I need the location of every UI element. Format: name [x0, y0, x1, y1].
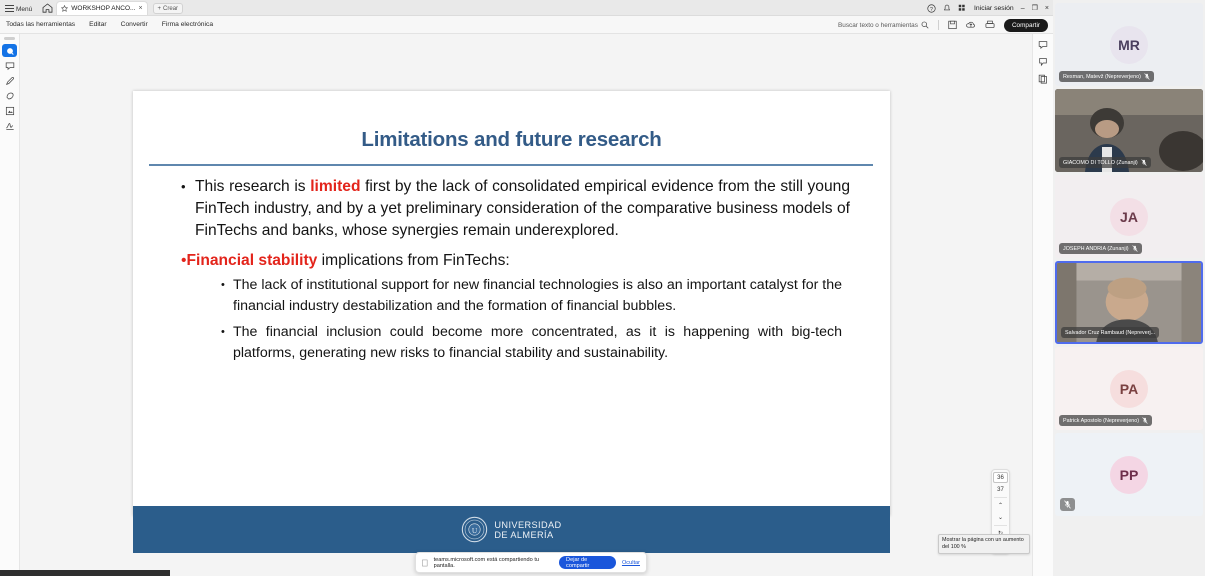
- toolbar: Todas las herramientas Editar Convertir …: [0, 16, 1053, 34]
- slide-title: Limitations and future research: [133, 128, 890, 152]
- stamp-tool-button[interactable]: [2, 104, 17, 117]
- participant-tile[interactable]: JA JOSEPH ANDRIA (Zunanji): [1055, 175, 1203, 258]
- next-page-number[interactable]: 37: [993, 484, 1008, 495]
- participant-tile[interactable]: PP: [1055, 433, 1203, 516]
- plus-icon: +: [158, 6, 162, 12]
- bullet-1-highlight: limited: [310, 178, 360, 195]
- help-icon[interactable]: ?: [927, 4, 936, 13]
- teams-video-panel: MR Resman, Matevž (Nepreverjeno) GIACOMO…: [1053, 0, 1205, 576]
- participant-name-bar: GIACOMO DI TOLLO (Zunanji): [1059, 157, 1151, 168]
- print-icon[interactable]: [985, 20, 995, 30]
- participant-tile[interactable]: MR Resman, Matevž (Nepreverjeno): [1055, 3, 1203, 86]
- participant-name-bar: Resman, Matevž (Nepreverjeno): [1059, 71, 1154, 82]
- avatar-initials: PP: [1120, 467, 1139, 483]
- right-tool-rail: [1032, 34, 1053, 576]
- upload-cloud-icon[interactable]: [966, 20, 976, 30]
- menu-hamburger-icon[interactable]: [5, 5, 14, 12]
- participant-name-bar: Patrick Apostolo (Nepreverjeno): [1059, 415, 1152, 426]
- university-name-line2: DE ALMERÍA: [494, 530, 561, 540]
- slide: Limitations and future research • This r…: [133, 128, 890, 553]
- participant-name-bar: JOSEPH ANDRIA (Zunanji): [1059, 243, 1142, 254]
- new-tab-button[interactable]: + Crear: [153, 3, 184, 14]
- page-canvas[interactable]: Limitations and future research • This r…: [20, 34, 1032, 576]
- hide-notification-link[interactable]: Ocultar: [622, 560, 640, 566]
- menu-item-esign[interactable]: Firma electrónica: [162, 21, 213, 28]
- menu-label[interactable]: Menú: [16, 6, 32, 13]
- bullet-1-text: This research is limited first by the la…: [195, 176, 850, 242]
- mic-muted-button[interactable]: [1060, 498, 1075, 511]
- new-tab-label: Crear: [163, 6, 178, 12]
- star-icon: [61, 5, 68, 12]
- participant-name: Resman, Matevž (Nepreverjeno): [1063, 74, 1141, 80]
- share-message: teams.microsoft.com está compartiendo tu…: [434, 557, 553, 569]
- divider: [938, 20, 939, 30]
- search-placeholder: Buscar texto o herramientas: [838, 22, 918, 29]
- rail-grip-handle[interactable]: [4, 37, 15, 40]
- mic-muted-icon: [1132, 245, 1138, 252]
- notification-bell-icon[interactable]: [943, 4, 951, 13]
- acrobat-reader-window: Menú WORKSHOP ANCO... × + Crear ? Inicia…: [0, 0, 1053, 576]
- sign-in-button[interactable]: Iniciar sesión: [974, 5, 1014, 12]
- comment-tool-button[interactable]: [2, 59, 17, 72]
- maximize-button[interactable]: ❐: [1032, 5, 1038, 12]
- sticky-note-icon[interactable]: [1035, 55, 1051, 69]
- participant-name: GIACOMO DI TOLLO (Zunanji): [1063, 160, 1138, 166]
- avatar: PA: [1110, 370, 1148, 408]
- slide-footer-band: U UNIVERSIDAD DE ALMERÍA: [133, 506, 890, 553]
- university-name: UNIVERSIDAD DE ALMERÍA: [494, 520, 561, 540]
- stop-sharing-button[interactable]: Dejar de compartir: [559, 556, 616, 569]
- previous-page-arrow-icon[interactable]: ⌃: [993, 500, 1008, 511]
- mic-muted-icon: [1142, 417, 1148, 424]
- pdf-page: Limitations and future research • This r…: [133, 91, 890, 516]
- toolbar-right-group: Buscar texto o herramientas Compartir: [838, 16, 1048, 34]
- apps-grid-icon[interactable]: [958, 4, 967, 13]
- bullet-2-text: Financial stability implications from Fi…: [186, 250, 509, 272]
- university-seal-logo: U: [461, 516, 488, 543]
- tab-title: WORKSHOP ANCO...: [71, 5, 135, 12]
- svg-text:U: U: [472, 526, 478, 535]
- divider: [994, 525, 1007, 526]
- bullet-dot-icon: •: [221, 322, 233, 363]
- taskbar-sliver: [0, 570, 170, 576]
- next-page-arrow-icon[interactable]: ⌄: [993, 512, 1008, 523]
- participant-tile[interactable]: GIACOMO DI TOLLO (Zunanji): [1055, 89, 1203, 172]
- window-controls: ? Iniciar sesión – ❐ ×: [927, 4, 1049, 13]
- close-window-button[interactable]: ×: [1045, 5, 1049, 12]
- mic-muted-icon: [1144, 73, 1150, 80]
- participant-name: JOSEPH ANDRIA (Zunanji): [1063, 246, 1129, 252]
- signature-tool-button[interactable]: [2, 119, 17, 132]
- document-area: Limitations and future research • This r…: [0, 34, 1053, 576]
- select-tool-button[interactable]: [2, 44, 17, 57]
- bullet-2-highlight: Financial stability: [186, 252, 317, 269]
- mic-muted-icon: [1064, 500, 1071, 509]
- participant-name: Salvador Cruz Rambaud (Nepreverj...: [1065, 330, 1155, 336]
- bullet-dot-icon: •: [221, 275, 233, 316]
- stop-sharing-label: Dejar de compartir: [566, 557, 609, 569]
- participant-tile-active-speaker[interactable]: Salvador Cruz Rambaud (Nepreverj...: [1055, 261, 1203, 344]
- avatar-initials: JA: [1120, 209, 1138, 225]
- tab-close-icon[interactable]: ×: [138, 5, 142, 12]
- share-button[interactable]: Compartir: [1004, 19, 1048, 32]
- bullet-1-pre: This research is: [195, 178, 310, 195]
- highlight-tool-button[interactable]: [2, 89, 17, 102]
- participant-name: Patrick Apostolo (Nepreverjeno): [1063, 418, 1139, 424]
- sub-bullet-1-text: The lack of institutional support for ne…: [233, 275, 842, 316]
- draw-tool-button[interactable]: [2, 74, 17, 87]
- university-name-line1: UNIVERSIDAD: [494, 520, 561, 530]
- bullet-item-2: • Financial stability implications from …: [181, 250, 850, 272]
- tab-strip: Menú WORKSHOP ANCO... × + Crear ? Inicia…: [0, 0, 1053, 16]
- search-input[interactable]: Buscar texto o herramientas: [838, 21, 929, 29]
- mic-muted-icon: [1141, 159, 1147, 166]
- divider: [994, 497, 1007, 498]
- home-icon[interactable]: [38, 1, 56, 15]
- bullet-item-1: • This research is limited first by the …: [181, 176, 850, 242]
- participant-name-bar: Salvador Cruz Rambaud (Nepreverj...: [1061, 327, 1159, 338]
- bullet-2-post: implications from FinTechs:: [317, 252, 509, 269]
- zoom-tooltip: Mostrar la página con un aumento del 100…: [938, 534, 1030, 554]
- avatar-initials: PA: [1120, 381, 1138, 397]
- sub-bullet-item-2: • The financial inclusion could become m…: [221, 322, 842, 363]
- screen: Menú WORKSHOP ANCO... × + Crear ? Inicia…: [0, 0, 1205, 576]
- left-tool-rail: [0, 34, 20, 576]
- minimize-button[interactable]: –: [1021, 5, 1025, 12]
- avatar: MR: [1110, 26, 1148, 64]
- slide-body: • This research is limited first by the …: [133, 166, 890, 363]
- participant-tile[interactable]: PA Patrick Apostolo (Nepreverjeno): [1055, 347, 1203, 430]
- page-icon: [422, 559, 428, 567]
- sub-bullet-2-text: The financial inclusion could become mor…: [233, 322, 842, 363]
- svg-text:?: ?: [930, 7, 933, 13]
- avatar-initials: MR: [1118, 37, 1140, 53]
- menu-item-convert[interactable]: Convertir: [121, 21, 148, 28]
- sub-bullet-item-1: • The lack of institutional support for …: [221, 275, 842, 316]
- comment-panel-icon[interactable]: [1035, 38, 1051, 52]
- avatar: JA: [1110, 198, 1148, 236]
- avatar: PP: [1110, 456, 1148, 494]
- pages-panel-icon[interactable]: [1035, 72, 1051, 86]
- document-tab[interactable]: WORKSHOP ANCO... ×: [56, 1, 147, 15]
- search-icon: [921, 21, 929, 29]
- screen-share-notification: teams.microsoft.com está compartiendo tu…: [415, 552, 647, 573]
- menu-item-edit[interactable]: Editar: [89, 21, 106, 28]
- current-page-number[interactable]: 36: [993, 472, 1008, 483]
- save-icon[interactable]: [948, 20, 957, 30]
- menu-item-all-tools[interactable]: Todas las herramientas: [6, 21, 75, 28]
- share-label: Compartir: [1012, 22, 1040, 29]
- bullet-dot-icon: •: [181, 176, 195, 242]
